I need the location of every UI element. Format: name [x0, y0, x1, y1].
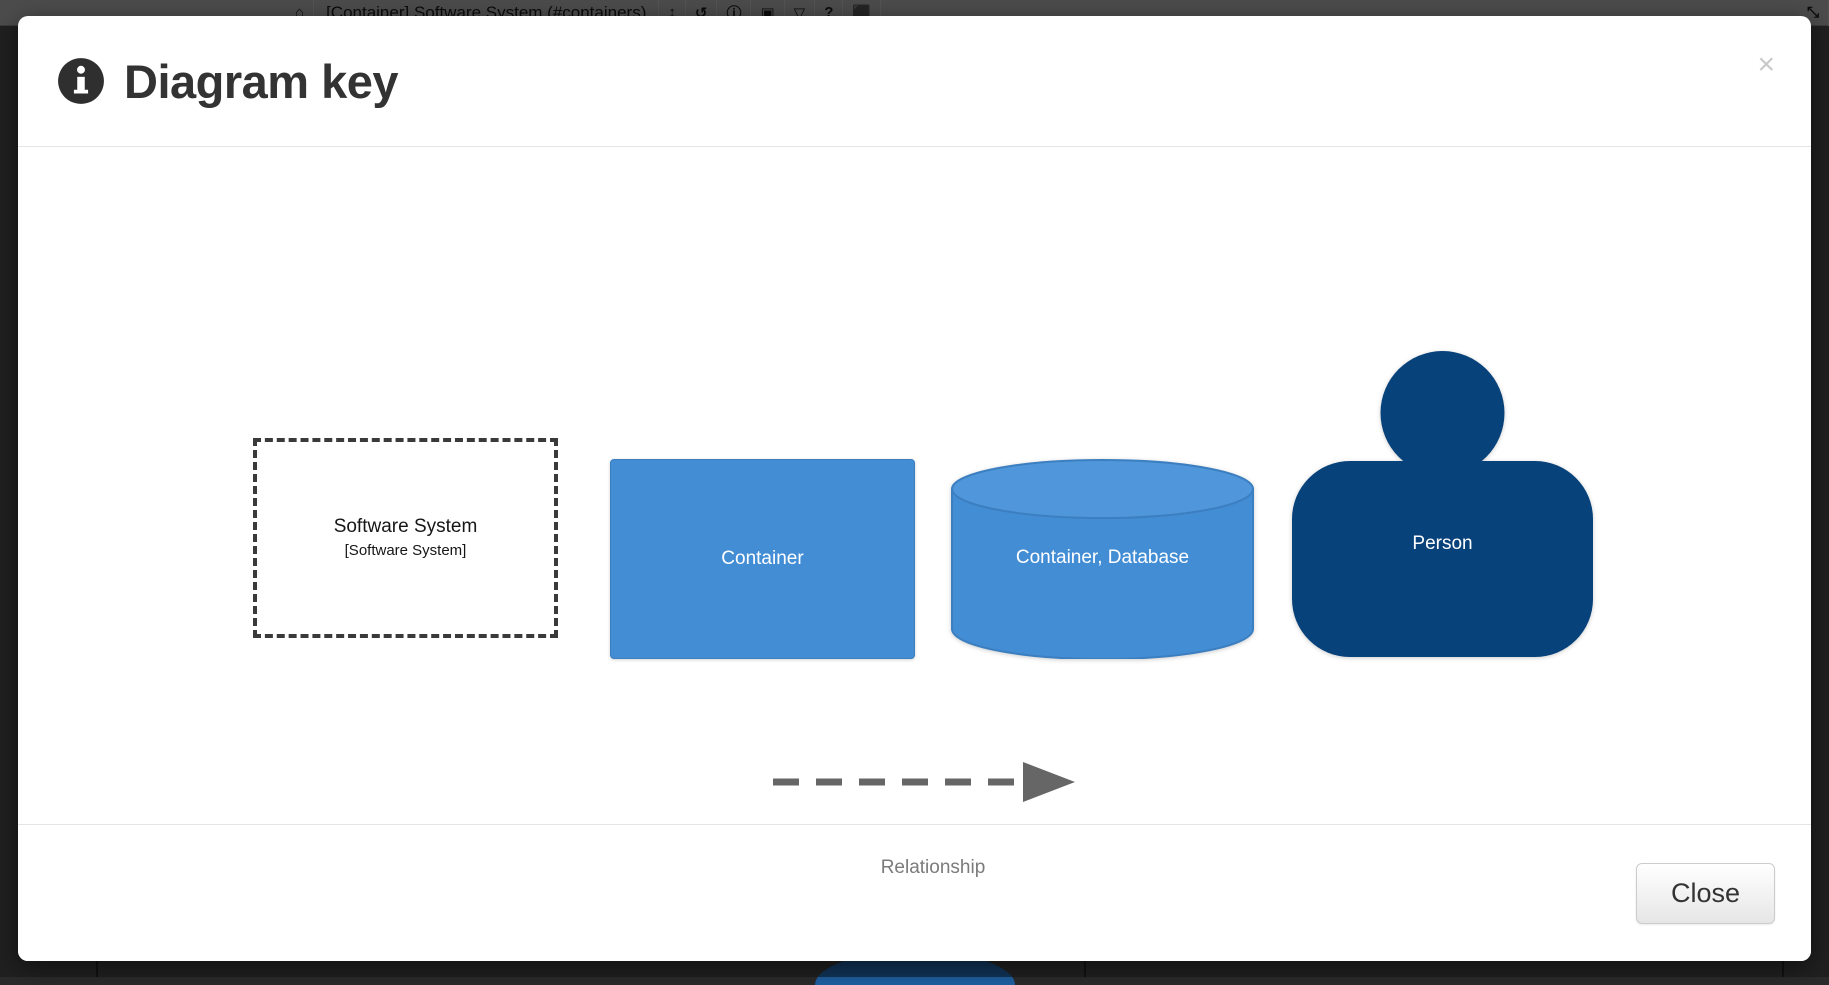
legend-item-container[interactable]: Container: [610, 459, 915, 659]
legend-label-software-system: Software System: [334, 516, 478, 539]
legend-item-software-system[interactable]: Software System [Software System]: [253, 438, 558, 638]
legend-label-container: Container: [721, 548, 803, 570]
modal-body: Software System [Software System] Contai…: [18, 147, 1811, 825]
legend-item-person[interactable]: Person: [1290, 345, 1595, 659]
dashed-arrow-icon: [773, 752, 1093, 812]
close-button[interactable]: Close: [1636, 863, 1775, 924]
legend-label-relationship: Relationship: [773, 857, 1093, 879]
close-icon[interactable]: ×: [1749, 46, 1783, 84]
info-circle-icon: [56, 56, 106, 106]
legend-sublabel-software-system: [Software System]: [345, 542, 467, 560]
modal-footer: Close: [18, 825, 1811, 961]
modal-header: Diagram key ×: [18, 16, 1811, 147]
person-icon: [1290, 345, 1595, 659]
cylinder-icon: [950, 459, 1255, 659]
page-title: Diagram key: [124, 58, 398, 105]
legend-item-relationship[interactable]: [773, 752, 1093, 812]
diagram-key-modal: Diagram key × Software System [Software …: [18, 16, 1811, 961]
legend-item-container-database[interactable]: Container, Database: [950, 459, 1255, 659]
legend-stage: Software System [Software System] Contai…: [18, 147, 1811, 824]
